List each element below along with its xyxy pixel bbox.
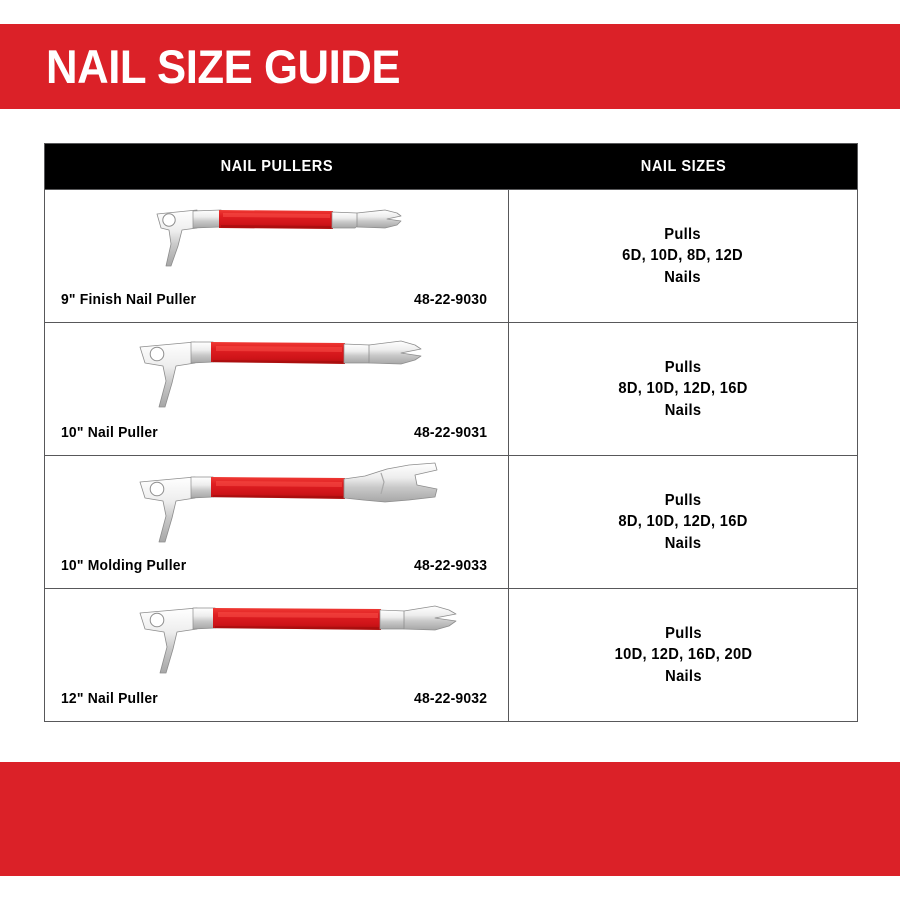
nail-sizes-line-2: 8D, 10D, 12D, 16D [618, 378, 747, 399]
nail-sizes-text: Pulls 6D, 10D, 8D, 12D Nails [623, 224, 744, 288]
product-name: 12" Nail Puller [61, 691, 158, 707]
column-header-nail-pullers-label: NAIL PULLERS [220, 158, 333, 176]
nail-sizes-line-1: Pulls [618, 490, 747, 511]
product-name: 9" Finish Nail Puller [61, 292, 196, 308]
column-header-nail-sizes: NAIL SIZES [509, 144, 857, 189]
column-header-nail-pullers: NAIL PULLERS [45, 144, 509, 189]
finish-nail-puller-icon [45, 194, 509, 284]
nail-sizes-line-3: Nails [618, 533, 747, 554]
molding-puller-icon [45, 460, 509, 550]
table-row: 10" Molding Puller 48-22-9033 Pulls 8D, … [45, 455, 857, 588]
product-cell: 10" Nail Puller 48-22-9031 [45, 323, 509, 455]
nail-sizes-line-2: 6D, 10D, 8D, 12D [623, 245, 744, 266]
product-cell: 9" Finish Nail Puller 48-22-9030 [45, 190, 509, 322]
table-row: 10" Nail Puller 48-22-9031 Pulls 8D, 10D… [45, 322, 857, 455]
product-cell: 10" Molding Puller 48-22-9033 [45, 456, 509, 588]
nail-sizes-text: Pulls 10D, 12D, 16D, 20D Nails [614, 623, 752, 687]
nail-puller-icon [45, 593, 509, 683]
product-sku: 48-22-9030 [414, 292, 487, 308]
table-row: 9" Finish Nail Puller 48-22-9030 Pulls 6… [45, 189, 857, 322]
nail-sizes-line-1: Pulls [618, 357, 747, 378]
table-header-row: NAIL PULLERS NAIL SIZES [45, 144, 857, 189]
nail-sizes-cell: Pulls 10D, 12D, 16D, 20D Nails [509, 589, 857, 721]
nail-sizes-line-1: Pulls [614, 623, 752, 644]
nail-size-table: NAIL PULLERS NAIL SIZES [44, 143, 858, 722]
table-row: 12" Nail Puller 48-22-9032 Pulls 10D, 12… [45, 588, 857, 721]
nail-sizes-text: Pulls 8D, 10D, 12D, 16D Nails [618, 357, 747, 421]
product-name: 10" Nail Puller [61, 425, 158, 441]
nail-sizes-line-1: Pulls [623, 224, 744, 245]
nail-sizes-text: Pulls 8D, 10D, 12D, 16D Nails [618, 490, 747, 554]
nail-size-guide-page: NAIL SIZE GUIDE NAIL PULLERS NAIL SIZES [0, 0, 900, 900]
top-red-banner: NAIL SIZE GUIDE [0, 24, 900, 109]
nail-sizes-line-2: 10D, 12D, 16D, 20D [614, 644, 752, 665]
product-label-row: 9" Finish Nail Puller 48-22-9030 [45, 292, 509, 308]
column-header-nail-sizes-label: NAIL SIZES [640, 158, 726, 176]
product-label-row: 10" Nail Puller 48-22-9031 [45, 425, 509, 441]
bottom-red-banner [0, 762, 900, 876]
nail-sizes-line-3: Nails [623, 267, 744, 288]
nail-sizes-line-3: Nails [614, 666, 752, 687]
product-label-row: 12" Nail Puller 48-22-9032 [45, 691, 509, 707]
nail-sizes-line-3: Nails [618, 400, 747, 421]
product-sku: 48-22-9033 [414, 558, 487, 574]
product-name: 10" Molding Puller [61, 558, 186, 574]
nail-sizes-cell: Pulls 6D, 10D, 8D, 12D Nails [509, 190, 857, 322]
product-cell: 12" Nail Puller 48-22-9032 [45, 589, 509, 721]
page-title: NAIL SIZE GUIDE [46, 43, 400, 90]
product-sku: 48-22-9032 [414, 691, 487, 707]
nail-sizes-cell: Pulls 8D, 10D, 12D, 16D Nails [509, 456, 857, 588]
nail-sizes-line-2: 8D, 10D, 12D, 16D [618, 511, 747, 532]
product-sku: 48-22-9031 [414, 425, 487, 441]
nail-puller-icon [45, 327, 509, 417]
product-label-row: 10" Molding Puller 48-22-9033 [45, 558, 509, 574]
nail-sizes-cell: Pulls 8D, 10D, 12D, 16D Nails [509, 323, 857, 455]
